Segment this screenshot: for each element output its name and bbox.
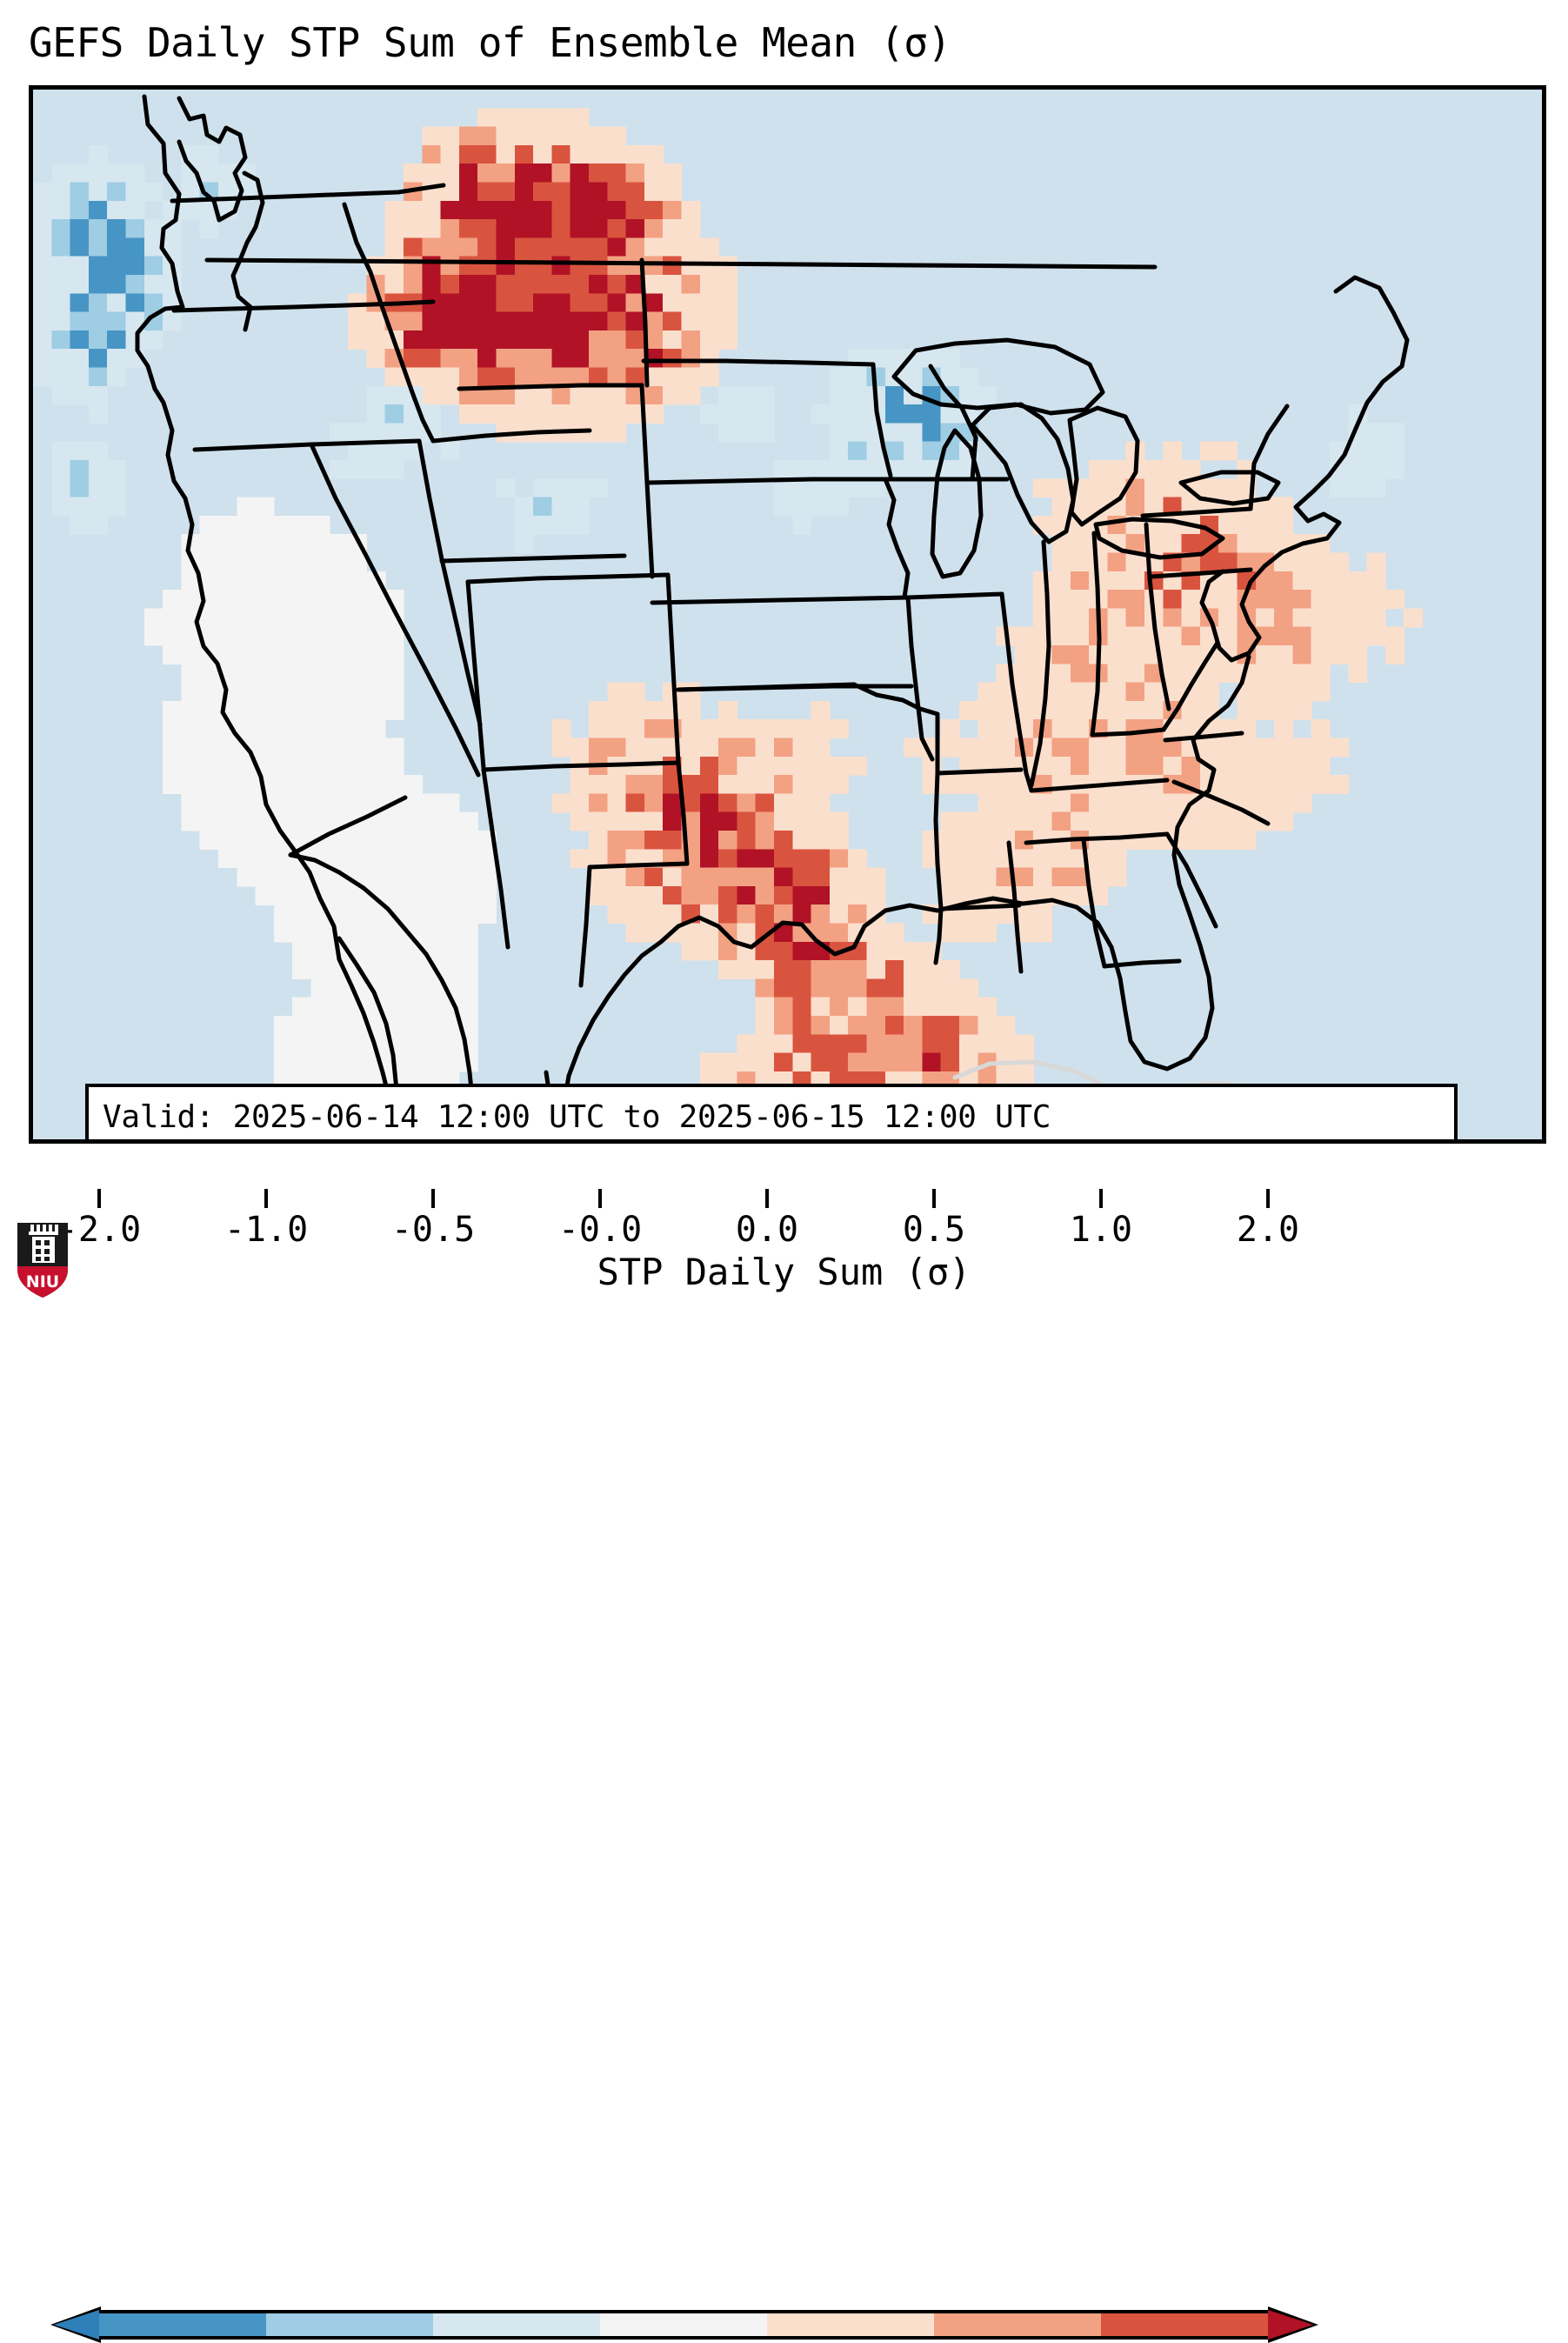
heatmap-cell: [441, 312, 460, 331]
heatmap-cell: [89, 257, 108, 276]
heatmap-cell: [570, 386, 590, 405]
heatmap-cell: [885, 960, 904, 979]
heatmap-cell: [589, 701, 608, 720]
heatmap-cell: [515, 183, 534, 202]
heatmap-cell: [1144, 478, 1164, 497]
heatmap-cell: [292, 683, 311, 702]
heatmap-cell: [1292, 553, 1311, 572]
heatmap-cell: [330, 460, 349, 479]
heatmap-cell: [404, 960, 423, 979]
heatmap-cell: [385, 849, 404, 868]
heatmap-cell: [1126, 812, 1145, 831]
heatmap-cell: [551, 793, 570, 812]
heatmap-cell: [904, 978, 923, 998]
heatmap-cell: [237, 868, 256, 887]
heatmap-cell: [774, 831, 793, 850]
heatmap-cell: [756, 960, 775, 979]
colorbar-swatches: [99, 2310, 1268, 2340]
heatmap-cell: [1367, 627, 1386, 646]
heatmap-cell: [441, 293, 460, 312]
heatmap-cell: [718, 868, 737, 887]
heatmap-cell: [682, 775, 701, 794]
heatmap-cell: [1238, 701, 1257, 720]
heatmap-cell: [144, 608, 163, 627]
heatmap-cell: [366, 386, 385, 405]
heatmap-cell: [348, 1034, 367, 1053]
heatmap-cell: [1107, 793, 1126, 812]
heatmap-cell: [682, 738, 701, 758]
heatmap-cell: [1033, 904, 1052, 924]
heatmap-cell: [422, 312, 441, 331]
heatmap-cell: [256, 831, 275, 850]
heatmap-cell: [422, 1053, 441, 1072]
heatmap-cell: [626, 924, 645, 943]
heatmap-cell: [1311, 590, 1331, 609]
heatmap-cell: [1367, 590, 1386, 609]
heatmap-cell: [459, 312, 478, 331]
heatmap-cell: [644, 164, 664, 183]
heatmap-cell: [422, 127, 441, 146]
heatmap-cell: [533, 478, 552, 497]
heatmap-cell: [1274, 701, 1293, 720]
heatmap-cell: [718, 701, 737, 720]
heatmap-cell: [348, 1053, 367, 1072]
niu-logo: NIU: [16, 1221, 70, 1299]
heatmap-cell: [70, 330, 90, 350]
heatmap-cell: [497, 368, 516, 387]
heatmap-cell: [718, 386, 737, 405]
heatmap-cell: [997, 738, 1016, 758]
heatmap-cell: [292, 645, 311, 664]
heatmap-cell: [497, 108, 516, 127]
heatmap-cell: [1311, 719, 1331, 738]
heatmap-cell: [1071, 645, 1090, 664]
heatmap-cell: [1218, 590, 1238, 609]
heatmap-cell: [644, 404, 664, 424]
heatmap-cell: [977, 701, 997, 720]
heatmap-cell: [70, 478, 90, 497]
heatmap-cell: [682, 349, 701, 368]
heatmap-cell: [366, 330, 385, 350]
heatmap-cell: [1071, 701, 1090, 720]
heatmap-cell: [459, 924, 478, 943]
heatmap-cell: [292, 534, 311, 553]
heatmap-cell: [941, 849, 960, 868]
heatmap-cell: [1238, 534, 1257, 553]
heatmap-cell: [311, 793, 330, 812]
heatmap-cell: [904, 1053, 923, 1072]
heatmap-cell: [515, 219, 534, 238]
heatmap-cell: [959, 701, 978, 720]
heatmap-cell: [274, 516, 293, 535]
heatmap-cell: [385, 831, 404, 850]
heatmap-cell: [477, 868, 497, 887]
heatmap-cell: [51, 312, 70, 331]
heatmap-cell: [644, 812, 664, 831]
colorbar-tick-label: -0.5: [391, 1211, 475, 1249]
heatmap-cell: [459, 183, 478, 202]
heatmap-cell: [1144, 460, 1164, 479]
heatmap-cell: [441, 942, 460, 961]
heatmap-cell: [663, 219, 682, 238]
heatmap-cell: [792, 812, 811, 831]
heatmap-cell: [348, 627, 367, 646]
heatmap-cell: [385, 942, 404, 961]
heatmap-cell: [1292, 645, 1311, 664]
heatmap-cell: [1015, 645, 1034, 664]
heatmap-cell: [737, 775, 756, 794]
heatmap-cell: [737, 924, 756, 943]
heatmap-cell: [700, 793, 719, 812]
heatmap-cell: [867, 978, 886, 998]
heatmap-cell: [718, 849, 737, 868]
heatmap-cell: [181, 757, 200, 776]
heatmap-cell: [570, 237, 590, 257]
heatmap-cell: [1238, 738, 1257, 758]
heatmap-cell: [607, 312, 626, 331]
heatmap-cell: [570, 330, 590, 350]
heatmap-cell: [922, 1016, 941, 1035]
heatmap-cell: [941, 812, 960, 831]
heatmap-cell: [774, 960, 793, 979]
heatmap-cell: [700, 312, 719, 331]
heatmap-cell: [89, 497, 108, 517]
heatmap-cell: [404, 831, 423, 850]
heatmap-cell: [589, 275, 608, 294]
heatmap-cell: [1311, 571, 1331, 591]
heatmap-cell: [533, 497, 552, 517]
colorbar-tick-label: 2.0: [1237, 1211, 1299, 1249]
heatmap-cell: [385, 423, 404, 442]
heatmap-cell: [1163, 590, 1182, 609]
heatmap-cell: [1126, 793, 1145, 812]
heatmap-cell: [311, 553, 330, 572]
heatmap-cell: [737, 849, 756, 868]
heatmap-cell: [477, 201, 497, 220]
heatmap-cell: [644, 257, 664, 276]
heatmap-cell: [644, 775, 664, 794]
heatmap-cell: [570, 793, 590, 812]
heatmap-cell: [477, 164, 497, 183]
heatmap-cell: [756, 831, 775, 850]
heatmap-cell: [330, 978, 349, 998]
heatmap-cell: [33, 368, 52, 387]
heatmap-cell: [515, 201, 534, 220]
heatmap-cell: [1033, 849, 1052, 868]
heatmap-cell: [256, 719, 275, 738]
heatmap-cell: [441, 257, 460, 276]
heatmap-cell: [1163, 627, 1182, 646]
heatmap-cell: [644, 386, 664, 405]
heatmap-cell: [756, 978, 775, 998]
heatmap-cell: [404, 257, 423, 276]
heatmap-cell: [1274, 683, 1293, 702]
heatmap-cell: [570, 108, 590, 127]
heatmap-cell: [997, 812, 1016, 831]
heatmap-cell: [33, 183, 52, 202]
heatmap-cell: [885, 1016, 904, 1035]
heatmap-cell: [718, 960, 737, 979]
heatmap-cell: [570, 849, 590, 868]
heatmap-cell: [1218, 831, 1238, 850]
heatmap-cell: [330, 645, 349, 664]
heatmap-cell: [1089, 757, 1108, 776]
heatmap-cell: [570, 478, 590, 497]
colorbar-tick: [431, 1189, 435, 1208]
heatmap-cell: [885, 978, 904, 998]
colorbar-tick-label: 1.0: [1070, 1211, 1132, 1249]
heatmap-cell: [497, 127, 516, 146]
heatmap-cell: [1071, 664, 1090, 683]
heatmap-cell: [1274, 645, 1293, 664]
heatmap-cell: [737, 386, 756, 405]
heatmap-cell: [551, 386, 570, 405]
heatmap-cell: [885, 1034, 904, 1053]
heatmap-cell: [385, 664, 404, 683]
heatmap-cell: [551, 478, 570, 497]
heatmap-cell: [1052, 553, 1071, 572]
heatmap-cell: [404, 998, 423, 1017]
heatmap-cell: [515, 257, 534, 276]
heatmap-cell: [867, 886, 886, 905]
heatmap-cell: [477, 904, 497, 924]
heatmap-cell: [70, 497, 90, 517]
heatmap-cell: [867, 868, 886, 887]
heatmap-cell: [1274, 497, 1293, 517]
heatmap-cell: [1182, 590, 1201, 609]
heatmap-cell: [867, 478, 886, 497]
heatmap-cell: [1071, 719, 1090, 738]
heatmap-cell: [292, 1016, 311, 1035]
heatmap-cell: [459, 293, 478, 312]
heatmap-cell: [663, 904, 682, 924]
heatmap-cell: [977, 719, 997, 738]
heatmap-cell: [404, 812, 423, 831]
heatmap-cell: [1274, 608, 1293, 627]
heatmap-cell: [385, 460, 404, 479]
heatmap-cell: [1348, 478, 1367, 497]
heatmap-cell: [533, 349, 552, 368]
heatmap-cell: [1292, 757, 1311, 776]
heatmap-cell: [292, 516, 311, 535]
heatmap-cell: [181, 645, 200, 664]
heatmap-cell: [941, 831, 960, 850]
heatmap-cell: [348, 608, 367, 627]
heatmap-cell: [1238, 757, 1257, 776]
heatmap-cell: [404, 237, 423, 257]
heatmap-cell: [422, 812, 441, 831]
heatmap-cell: [589, 386, 608, 405]
heatmap-cell: [70, 293, 90, 312]
heatmap-cell: [718, 1053, 737, 1072]
heatmap-cell: [811, 719, 831, 738]
heatmap-cell: [51, 293, 70, 312]
heatmap-cell: [867, 942, 886, 961]
heatmap-cell: [867, 1053, 886, 1072]
heatmap-cell: [1200, 738, 1219, 758]
heatmap-cell: [256, 645, 275, 664]
heatmap-cell: [237, 793, 256, 812]
heatmap-cell: [292, 904, 311, 924]
heatmap-cell: [682, 368, 701, 387]
heatmap-cell: [1163, 793, 1182, 812]
colorbar-segment: [266, 2313, 433, 2336]
heatmap-cell: [441, 868, 460, 887]
heatmap-cell: [1238, 775, 1257, 794]
heatmap-cell: [330, 1034, 349, 1053]
heatmap-cell: [163, 590, 182, 609]
heatmap-cell: [830, 460, 849, 479]
heatmap-cell: [200, 701, 219, 720]
heatmap-cell: [1256, 516, 1275, 535]
heatmap-cell: [663, 812, 682, 831]
heatmap-cell: [422, 275, 441, 294]
heatmap-cell: [589, 219, 608, 238]
heatmap-cell: [533, 386, 552, 405]
heatmap-cell: [1218, 757, 1238, 776]
heatmap-cell: [1071, 812, 1090, 831]
heatmap-cell: [1144, 775, 1164, 794]
heatmap-cell: [200, 164, 219, 183]
heatmap-cell: [756, 1034, 775, 1053]
heatmap-cell: [663, 257, 682, 276]
heatmap-cell: [292, 793, 311, 812]
heatmap-cell: [422, 1034, 441, 1053]
heatmap-cell: [551, 145, 570, 164]
heatmap-cell: [1367, 423, 1386, 442]
heatmap-cell: [292, 719, 311, 738]
heatmap-cell: [997, 1016, 1016, 1035]
heatmap-cell: [1071, 793, 1090, 812]
heatmap-cell: [756, 757, 775, 776]
heatmap-cell: [218, 738, 237, 758]
heatmap-cell: [497, 293, 516, 312]
heatmap-cell: [848, 998, 867, 1017]
heatmap-cell: [811, 460, 831, 479]
heatmap-cell: [330, 608, 349, 627]
heatmap-cell: [441, 904, 460, 924]
heatmap-cell: [1071, 571, 1090, 591]
heatmap-cell: [330, 683, 349, 702]
heatmap-cell: [70, 164, 90, 183]
heatmap-cell: [774, 757, 793, 776]
heatmap-cell: [1107, 553, 1126, 572]
heatmap-cell: [959, 738, 978, 758]
heatmap-cell: [811, 701, 831, 720]
heatmap-cell: [477, 237, 497, 257]
heatmap-cell: [1126, 738, 1145, 758]
heatmap-cell: [1238, 719, 1257, 738]
heatmap-cell: [533, 293, 552, 312]
heatmap-cell: [274, 904, 293, 924]
heatmap-cell: [756, 998, 775, 1017]
heatmap-cell: [792, 942, 811, 961]
heatmap-cell: [348, 793, 367, 812]
heatmap-cell: [1292, 738, 1311, 758]
heatmap-cell: [700, 719, 719, 738]
heatmap-cell: [551, 330, 570, 350]
heatmap-cell: [107, 201, 126, 220]
heatmap-cell: [756, 793, 775, 812]
heatmap-cell: [644, 701, 664, 720]
heatmap-cell: [830, 904, 849, 924]
heatmap-cell: [1089, 738, 1108, 758]
heatmap-cell: [70, 349, 90, 368]
heatmap-cell: [1052, 849, 1071, 868]
heatmap-cell: [515, 497, 534, 517]
heatmap-cell: [477, 404, 497, 424]
heatmap-cell: [1033, 793, 1052, 812]
heatmap-cell: [792, 886, 811, 905]
heatmap-cell: [1200, 683, 1219, 702]
heatmap-cell: [1015, 683, 1034, 702]
colorbar-tick-label: -2.0: [57, 1211, 141, 1249]
heatmap-cell: [533, 257, 552, 276]
heatmap-cell: [107, 312, 126, 331]
heatmap-cell: [459, 330, 478, 350]
heatmap-cell: [422, 904, 441, 924]
heatmap-cell: [830, 831, 849, 850]
heatmap-cell: [1182, 534, 1201, 553]
heatmap-cell: [477, 368, 497, 387]
heatmap-cell: [904, 404, 923, 424]
heatmap-cell: [330, 1053, 349, 1072]
colorbar-segment: [99, 2313, 266, 2336]
heatmap-cell: [515, 293, 534, 312]
heatmap-cell: [163, 738, 182, 758]
heatmap-cell: [144, 257, 163, 276]
heatmap-cell: [756, 942, 775, 961]
heatmap-cell: [533, 275, 552, 294]
heatmap-cell: [51, 330, 70, 350]
heatmap-cell: [607, 683, 626, 702]
heatmap-cell: [441, 368, 460, 387]
heatmap-cell: [330, 793, 349, 812]
heatmap-cell: [163, 312, 182, 331]
heatmap-cell: [718, 775, 737, 794]
heatmap-cell: [441, 386, 460, 405]
colorbar-segment: [767, 2313, 934, 2336]
heatmap-cell: [422, 831, 441, 850]
heatmap-cell: [144, 183, 163, 202]
heatmap-cell: [330, 775, 349, 794]
heatmap-cell: [570, 404, 590, 424]
heatmap-cell: [1052, 793, 1071, 812]
heatmap-cell: [404, 201, 423, 220]
heatmap-cell: [1071, 534, 1090, 553]
heatmap-cell: [885, 386, 904, 405]
heatmap-cell: [274, 608, 293, 627]
heatmap-cell: [200, 738, 219, 758]
heatmap-cell: [589, 164, 608, 183]
heatmap-cell: [718, 812, 737, 831]
heatmap-cell: [89, 478, 108, 497]
heatmap-cell: [607, 404, 626, 424]
heatmap-cell: [1218, 442, 1238, 461]
heatmap-cell: [292, 812, 311, 831]
heatmap-cell: [1200, 478, 1219, 497]
heatmap-cell: [737, 831, 756, 850]
heatmap-cell: [792, 978, 811, 998]
heatmap-cell: [589, 404, 608, 424]
heatmap-cell: [885, 404, 904, 424]
heatmap-cell: [959, 1034, 978, 1053]
heatmap-cell: [348, 775, 367, 794]
heatmap-cell: [237, 775, 256, 794]
heatmap-cell: [830, 757, 849, 776]
heatmap-cell: [663, 349, 682, 368]
heatmap-cell: [33, 201, 52, 220]
